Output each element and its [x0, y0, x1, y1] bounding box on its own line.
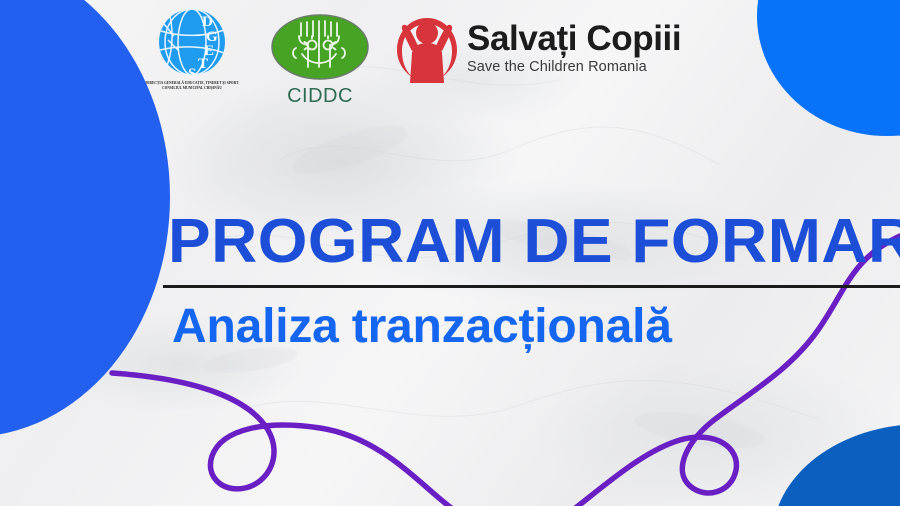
page-subtitle: Analiza tranzacțională — [172, 299, 672, 354]
title-divider — [163, 285, 900, 288]
logo-strip: D G E T S DIRECȚIA GENERALĂ EDUCAȚIE, TI… — [140, 4, 681, 108]
save-the-children-icon — [396, 13, 458, 83]
svg-text:S: S — [188, 66, 196, 80]
ciddc-caption: CIDDC — [287, 85, 353, 108]
dgets-globe-icon: D G E T S — [140, 4, 244, 80]
salvati-copiii-title: Salvați Copiii — [467, 21, 681, 56]
svg-text:D: D — [202, 14, 213, 30]
dgets-caption-line2: CONSILIUL MUNICIPAL CHIȘINĂU — [140, 85, 244, 91]
salvati-copiii-logo: Salvați Copiii Save the Children Romania — [396, 13, 681, 83]
svg-text:T: T — [198, 56, 208, 72]
salvati-copiii-subtitle: Save the Children Romania — [467, 60, 681, 75]
ciddc-emblem-icon — [268, 12, 372, 82]
ciddc-logo: CIDDC — [268, 12, 372, 108]
dgets-logo: D G E T S DIRECȚIA GENERALĂ EDUCAȚIE, TI… — [140, 4, 244, 90]
presentation-slide: D G E T S DIRECȚIA GENERALĂ EDUCAȚIE, TI… — [0, 0, 900, 506]
page-title: PROGRAM DE FORMARE — [168, 206, 900, 277]
